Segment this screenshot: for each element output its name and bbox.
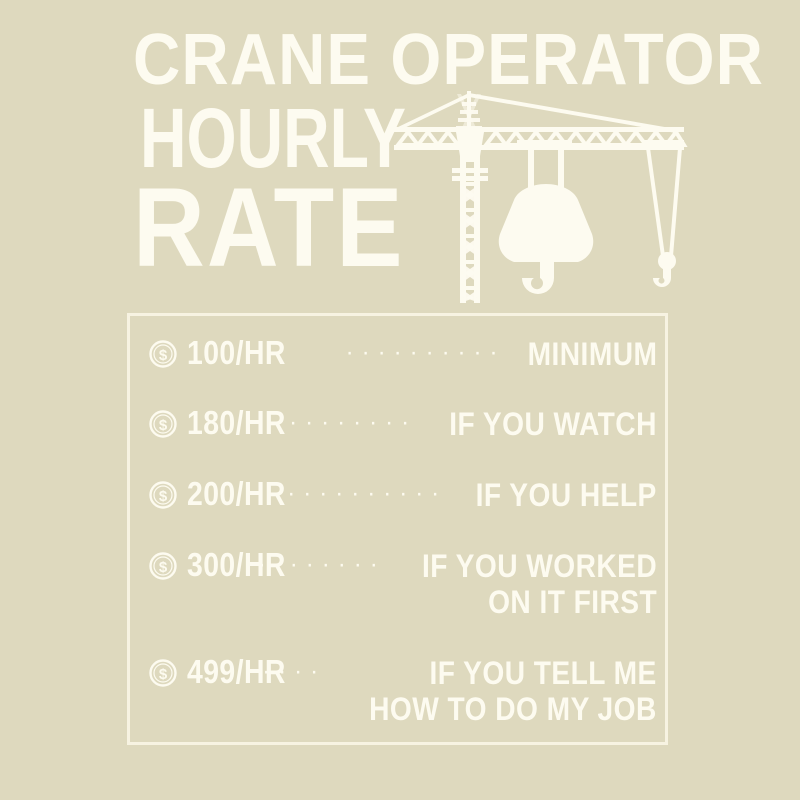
dollar-coin-icon: $ [148,551,178,581]
svg-text:$: $ [159,666,168,683]
svg-text:$: $ [159,347,168,364]
mast-collar-upper [452,168,488,173]
crane-structure [394,91,684,303]
rate-list-box: $ 100/HR ·········· MINIMUM [127,313,668,745]
main-hook [522,262,554,294]
rate-row: $ 180/HR ·········· IF YOU WATCH [130,406,671,442]
dotted-leader-dots: ·········· [258,655,326,689]
tower-crane-svg [390,88,690,303]
aux-rope-left [646,148,665,256]
hoist-rope-left [528,148,534,188]
auxiliary-hook [653,268,671,287]
rate-label: IF YOU WORKED ON IT FIRST [422,548,671,620]
rate-row: $ 499/HR ·········· IF YOU TELL ME HOW T… [130,655,671,727]
title-line-crane-operator: CRANE OPERATOR [133,24,764,96]
tower-crane-icon [390,88,690,303]
dotted-leader: ·········· [258,548,386,582]
dotted-leader: ·········· [258,406,417,440]
svg-text:$: $ [159,559,168,576]
rate-row: $ 100/HR ·········· MINIMUM [130,336,671,372]
jib-top-chord [394,127,684,132]
aux-pulley [658,252,676,270]
dotted-leader: ·········· [258,655,326,689]
rate-label: IF YOU HELP [476,477,671,513]
hook-block [499,184,593,262]
rate-row: $ 300/HR ·········· IF YOU WORKED ON IT … [130,548,671,620]
dollar-coin-icon: $ [148,339,178,369]
dollar-coin-icon: $ [148,409,178,439]
rate-label: IF YOU WATCH [449,406,671,442]
aux-rope-right [669,148,682,256]
poster-canvas: CRANE OPERATOR HOURLY RATE [0,0,800,800]
dotted-leader: ·········· [258,477,447,511]
dollar-coin-icon: $ [148,480,178,510]
title-line-rate: RATE [133,172,405,284]
rate-row: $ 200/HR ·········· IF YOU HELP [130,477,671,513]
dotted-leader: ·········· [258,336,506,370]
lattice-mast [460,144,480,303]
hoist-rope-right [558,148,564,188]
svg-text:$: $ [159,417,168,434]
dotted-leader-dots: ·········· [258,477,447,511]
dotted-leader-dots: ·········· [258,406,417,440]
dotted-leader-dots: ·········· [258,548,386,582]
rate-rows: $ 100/HR ·········· MINIMUM [130,316,671,748]
mast-collar-lower [452,176,488,181]
dotted-leader-dots: ·········· [258,336,506,370]
rate-label: MINIMUM [527,336,671,372]
svg-text:$: $ [159,488,168,505]
rate-label: IF YOU TELL ME HOW TO DO MY JOB [369,655,671,727]
dollar-coin-icon: $ [148,658,178,688]
